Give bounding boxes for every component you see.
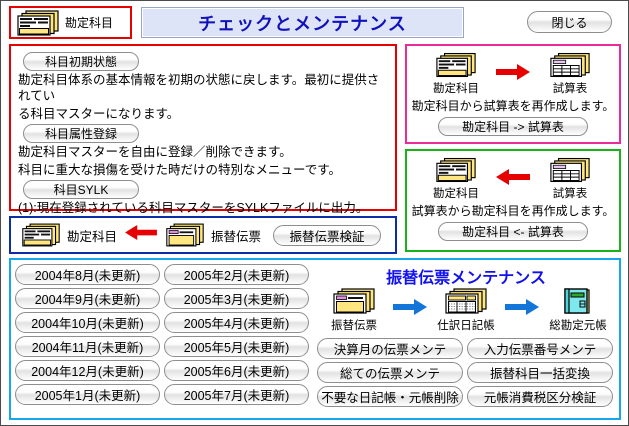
app-window: 勘定科目 チェックとメンテナンス 閉じる 科目初期状態 勘定科目体系の基本情報を… — [0, 0, 629, 426]
sylk-text-line-1: (1):現在登録されている科目マスターをSYLKファイルに出力。 — [18, 200, 389, 216]
account-stack-icon — [16, 10, 60, 36]
month-button[interactable]: 2005年7月(未更新) — [164, 384, 309, 405]
rebuild-trial-description: 勘定科目から試算表を再作成します。 — [407, 97, 619, 114]
flow-label-journal: 仕訳日記帳 — [437, 317, 495, 333]
month-button[interactable]: 2004年10月(未更新) — [15, 312, 160, 333]
account-master-info-panel: 科目初期状態 勘定科目体系の基本情報を初期の状態に戻します。最初に提供されてい … — [9, 44, 397, 211]
month-button[interactable]: 2004年11月(未更新) — [15, 336, 160, 357]
rebuild-account-flow: 勘定科目 — [407, 156, 619, 201]
slip-stack-icon — [165, 222, 205, 248]
month-button[interactable]: 2005年6月(未更新) — [164, 360, 309, 381]
account-stack-icon — [21, 222, 61, 248]
delete-unused-journal-ledger-button[interactable]: 不要な日記帳・元帳削除 — [317, 386, 463, 407]
maintenance-flow: 振替伝票 — [317, 286, 615, 333]
trial-balance-stack-icon — [549, 51, 591, 79]
rebuild-trial-flow: 勘定科目 — [407, 51, 619, 96]
rebuild-trial-target: 試算表 — [534, 51, 606, 96]
rebuild-trial-source-label: 勘定科目 — [433, 80, 479, 96]
page-title-panel: チェックとメンテナンス — [141, 7, 464, 38]
bulk-transfer-account-convert-button[interactable]: 振替科目一括変換 — [467, 362, 613, 383]
page-title: チェックとメンテナンス — [198, 10, 407, 36]
attribute-register-text-line-1: 勘定科目マスターを自由に登録／削除できます。 — [18, 144, 389, 160]
flow-item-journal: 仕訳日記帳 — [429, 286, 503, 333]
flow-label-ledger: 総勘定元帳 — [549, 317, 607, 333]
sylk-button[interactable]: 科目SYLK — [23, 180, 139, 199]
flow-item-slip: 振替伝票 — [317, 286, 391, 333]
flow-label-slip: 振替伝票 — [331, 317, 377, 333]
attribute-register-button[interactable]: 科目属性登録 — [23, 124, 139, 143]
slip-verify-button[interactable]: 振替伝票検証 — [273, 225, 381, 246]
rebuild-trial-target-label: 試算表 — [553, 80, 588, 96]
month-button[interactable]: 2004年9月(未更新) — [15, 288, 160, 309]
ledger-book-icon — [556, 286, 600, 316]
slip-verify-left-label: 勘定科目 — [67, 226, 117, 245]
arrow-left-icon — [496, 169, 530, 185]
header-account-badge: 勘定科目 — [9, 6, 132, 39]
header-account-label: 勘定科目 — [65, 14, 113, 31]
rebuild-trial-balance-button[interactable]: 勘定科目 -> 試算表 — [438, 117, 588, 136]
slip-verify-right-label: 振替伝票 — [211, 226, 261, 245]
rebuild-trial-source: 勘定科目 — [420, 51, 492, 96]
account-stack-icon — [435, 51, 477, 79]
close-button[interactable]: 閉じる — [527, 11, 612, 33]
month-button[interactable]: 2004年8月(未更新) — [15, 264, 160, 285]
slip-stack-icon — [332, 286, 376, 316]
flow-item-ledger: 総勘定元帳 — [541, 286, 615, 333]
rebuild-account-target-label: 勘定科目 — [433, 185, 479, 201]
closing-month-slip-maint-button[interactable]: 決算月の伝票メンテ — [317, 338, 463, 359]
maintenance-panel: 2004年8月(未更新) 2005年2月(未更新) 2004年9月(未更新) 2… — [9, 258, 621, 420]
initial-state-text-line-1: 勘定科目体系の基本情報を初期の状態に戻します。最初に提供されてい — [18, 72, 389, 104]
month-button[interactable]: 2005年3月(未更新) — [164, 288, 309, 309]
arrow-right-icon — [393, 299, 427, 315]
rebuild-account-description: 試算表から勘定科目を再作成します。 — [407, 202, 619, 219]
month-button[interactable]: 2005年5月(未更新) — [164, 336, 309, 357]
month-button[interactable]: 2004年12月(未更新) — [15, 360, 160, 381]
arrow-left-icon — [123, 225, 159, 245]
attribute-register-text-line-2: 科目に重大な損傷を受けた時だけの特別なメニューです。 — [18, 162, 389, 178]
journal-stack-icon — [444, 286, 488, 316]
rebuild-trial-balance-panel: 勘定科目 — [405, 44, 621, 144]
all-slips-maint-button[interactable]: 総ての伝票メンテ — [317, 362, 463, 383]
rebuild-account-button[interactable]: 勘定科目 <- 試算表 — [438, 222, 588, 241]
maintenance-action-grid: 決算月の伝票メンテ 入力伝票番号メンテ 総ての伝票メンテ 振替科目一括変換 不要… — [317, 338, 617, 407]
month-button[interactable]: 2005年4月(未更新) — [164, 312, 309, 333]
slip-verify-panel: 勘定科目 振替伝票 振替伝票検証 — [9, 216, 397, 254]
initial-state-text-line-2: る科目マスターになります。 — [18, 106, 389, 122]
arrow-right-icon — [496, 64, 530, 80]
input-slip-number-maint-button[interactable]: 入力伝票番号メンテ — [467, 338, 613, 359]
rebuild-account-source-label: 試算表 — [553, 185, 588, 201]
rebuild-account-target: 勘定科目 — [420, 156, 492, 201]
month-button[interactable]: 2005年2月(未更新) — [164, 264, 309, 285]
account-stack-icon — [435, 156, 477, 184]
maintenance-title: 振替伝票メンテナンス — [317, 264, 615, 288]
trial-balance-stack-icon — [549, 156, 591, 184]
month-button[interactable]: 2005年1月(未更新) — [15, 384, 160, 405]
rebuild-account-source: 試算表 — [534, 156, 606, 201]
initial-state-button[interactable]: 科目初期状態 — [23, 52, 139, 71]
arrow-right-icon — [505, 299, 539, 315]
ledger-tax-category-verify-button[interactable]: 元帳消費税区分検証 — [467, 386, 613, 407]
rebuild-account-panel: 勘定科目 — [405, 149, 621, 252]
month-button-grid: 2004年8月(未更新) 2005年2月(未更新) 2004年9月(未更新) 2… — [15, 264, 311, 405]
